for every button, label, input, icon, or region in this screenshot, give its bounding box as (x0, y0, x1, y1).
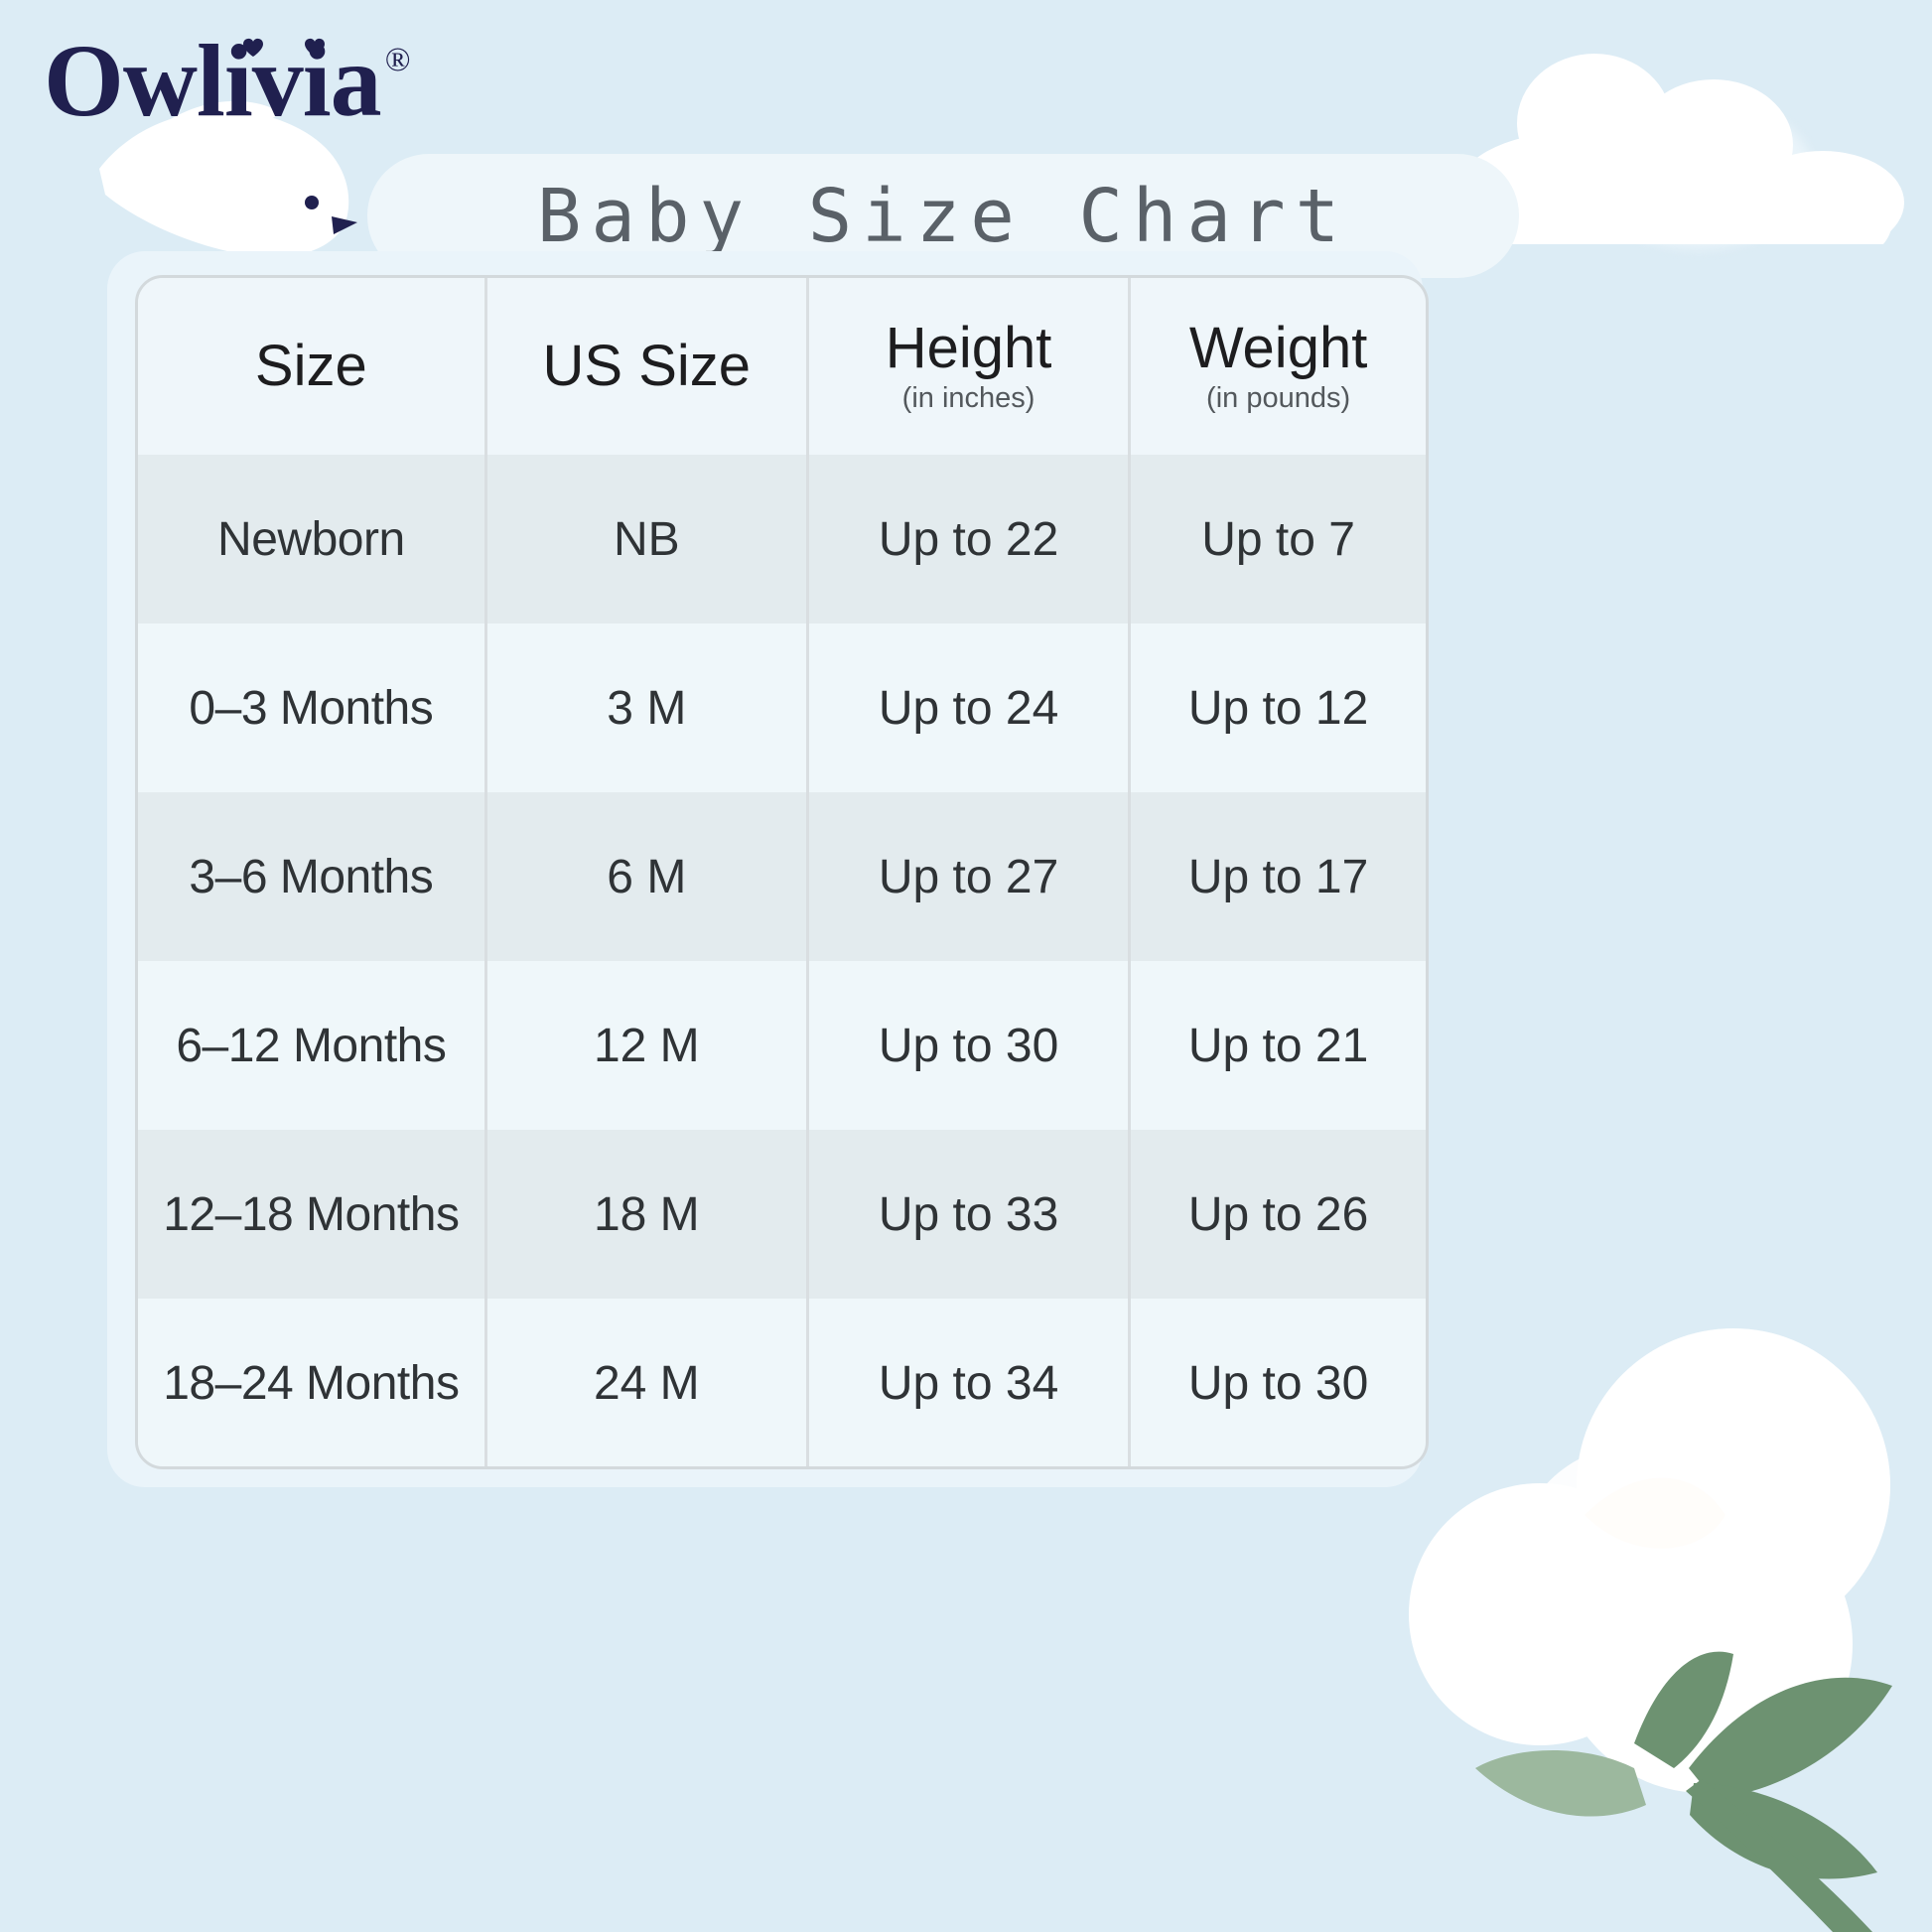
cell-weight: Up to 12 (1130, 623, 1426, 792)
column-header-height-unit: (in inches) (815, 383, 1122, 415)
cell-height: Up to 27 (807, 792, 1129, 961)
column-header-size-label: Size (144, 337, 479, 397)
cell-height: Up to 22 (807, 455, 1129, 623)
table-row: 6–12 Months 12 M Up to 30 Up to 21 (138, 961, 1426, 1130)
column-header-height-label: Height (815, 319, 1122, 379)
cell-weight: Up to 17 (1130, 792, 1426, 961)
column-header-weight-label: Weight (1137, 319, 1420, 379)
column-header-weight: Weight (in pounds) (1130, 278, 1426, 455)
cell-height: Up to 34 (807, 1299, 1129, 1467)
column-header-us-size-label: US Size (493, 337, 800, 397)
column-header-height: Height (in inches) (807, 278, 1129, 455)
page-canvas: Owlivia ® Baby Size Chart Size (0, 0, 1932, 1932)
cell-weight: Up to 21 (1130, 961, 1426, 1130)
column-header-us-size: US Size (485, 278, 807, 455)
table-header-row: Size US Size Height (in inches) Weight (… (138, 278, 1426, 455)
table-row: 18–24 Months 24 M Up to 34 Up to 30 (138, 1299, 1426, 1467)
size-chart-card: Size US Size Height (in inches) Weight (… (135, 275, 1429, 1469)
cell-us-size: 6 M (485, 792, 807, 961)
table-body: Newborn NB Up to 22 Up to 7 0–3 Months 3… (138, 455, 1426, 1467)
column-header-weight-unit: (in pounds) (1137, 383, 1420, 415)
cell-us-size: 3 M (485, 623, 807, 792)
cell-size: 6–12 Months (138, 961, 485, 1130)
cell-us-size: 12 M (485, 961, 807, 1130)
cell-size: 12–18 Months (138, 1130, 485, 1299)
registered-mark: ® (385, 42, 411, 79)
cell-us-size: NB (485, 455, 807, 623)
brand-name: Owlivia (44, 30, 381, 133)
table-row: 0–3 Months 3 M Up to 24 Up to 12 (138, 623, 1426, 792)
size-chart-table: Size US Size Height (in inches) Weight (… (138, 278, 1426, 1467)
cloud-glow-icon (1585, 99, 1813, 248)
cell-us-size: 18 M (485, 1130, 807, 1299)
heart-dot-icon (242, 38, 264, 58)
cell-weight: Up to 7 (1130, 455, 1426, 623)
cell-height: Up to 33 (807, 1130, 1129, 1299)
cell-weight: Up to 30 (1130, 1299, 1426, 1467)
cell-size: 3–6 Months (138, 792, 485, 961)
cell-size: 0–3 Months (138, 623, 485, 792)
table-row: 12–18 Months 18 M Up to 33 Up to 26 (138, 1130, 1426, 1299)
table-header: Size US Size Height (in inches) Weight (… (138, 278, 1426, 455)
cell-size: 18–24 Months (138, 1299, 485, 1467)
brand-logo: Owlivia ® (44, 30, 411, 133)
cell-size: Newborn (138, 455, 485, 623)
cell-us-size: 24 M (485, 1299, 807, 1467)
cell-height: Up to 24 (807, 623, 1129, 792)
column-header-size: Size (138, 278, 485, 455)
table-row: 3–6 Months 6 M Up to 27 Up to 17 (138, 792, 1426, 961)
cell-height: Up to 30 (807, 961, 1129, 1130)
cell-weight: Up to 26 (1130, 1130, 1426, 1299)
page-title: Baby Size Chart (537, 174, 1349, 259)
heart-dot-icon (304, 38, 326, 58)
table-row: Newborn NB Up to 22 Up to 7 (138, 455, 1426, 623)
